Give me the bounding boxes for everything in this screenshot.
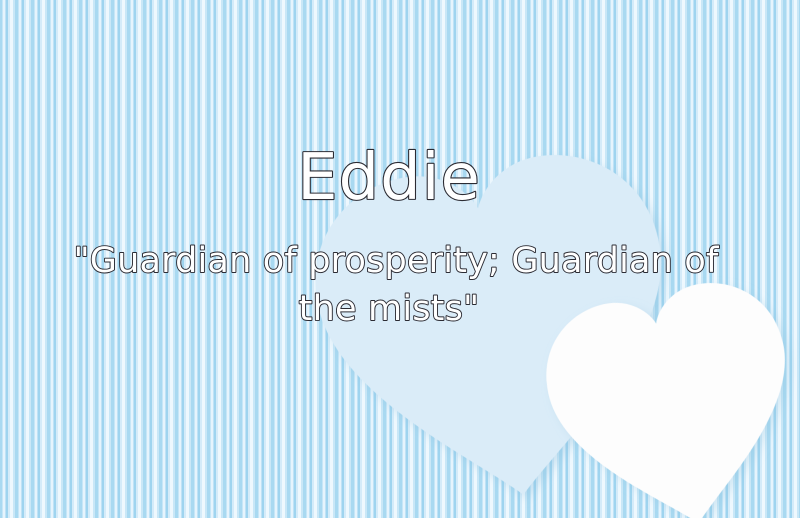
name-meaning-card: Eddie "Guardian of prosperity; Guardian … [0,0,800,518]
heart-decoration-layer [0,0,800,518]
